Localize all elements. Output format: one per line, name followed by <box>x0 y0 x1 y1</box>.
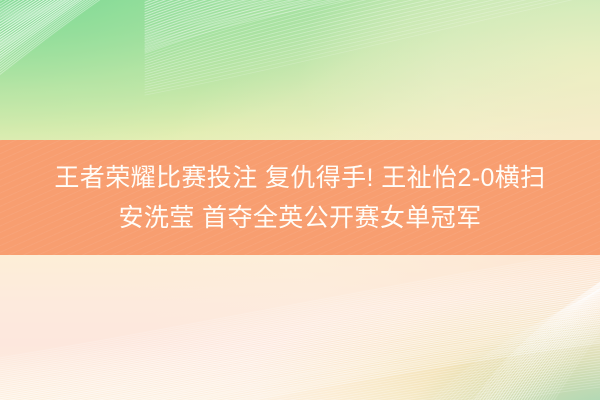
headline-line-1: 王者荣耀比赛投注 复仇得手! 王祉怡2-0横扫 <box>54 158 545 198</box>
headline-line-2: 安洗莹 首夺全英公开赛女单冠军 <box>119 198 482 238</box>
banner-graphic: 王者荣耀比赛投注 复仇得手! 王祉怡2-0横扫 安洗莹 首夺全英公开赛女单冠军 <box>0 0 600 400</box>
headline-band: 王者荣耀比赛投注 复仇得手! 王祉怡2-0横扫 安洗莹 首夺全英公开赛女单冠军 <box>0 140 600 255</box>
wave-pattern-bottom-right-icon <box>400 235 600 400</box>
wave-pattern-bottom-icon <box>0 250 600 400</box>
